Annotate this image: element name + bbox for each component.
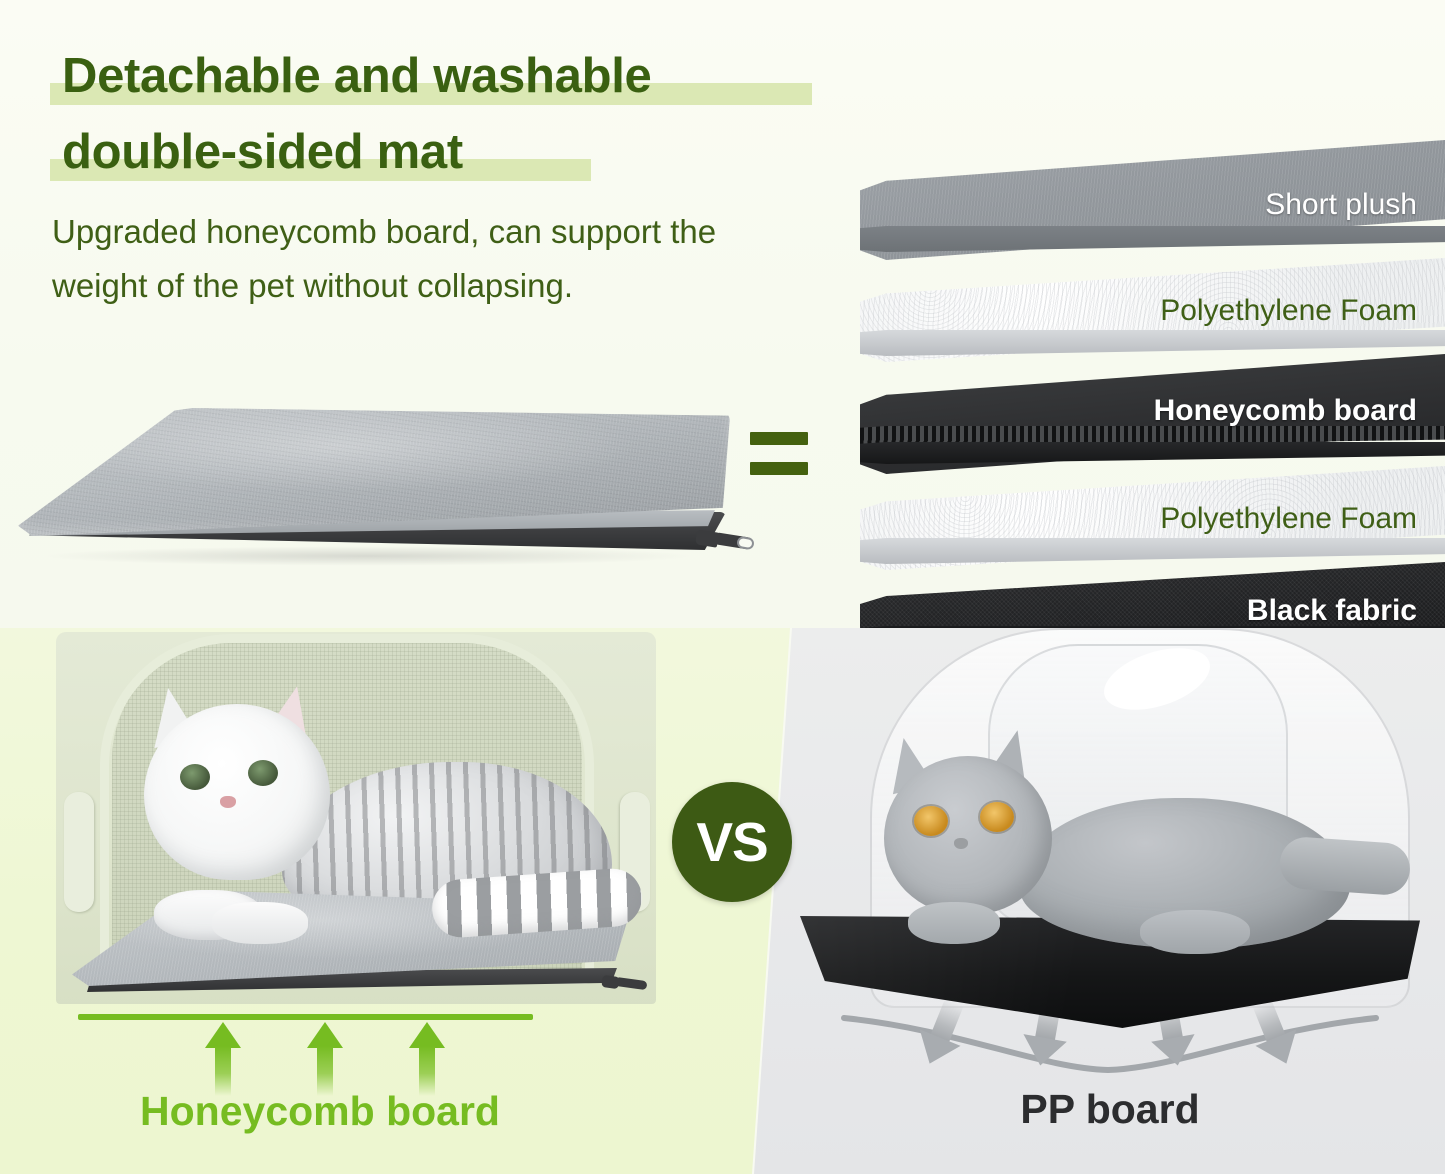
infographic-root: Detachable and washable double-sided mat… <box>0 0 1445 1174</box>
arrow-head <box>205 1022 241 1048</box>
layer-label-polyethylene-foam-top: Polyethylene Foam <box>1160 294 1417 328</box>
cat-head <box>884 756 1052 914</box>
page-title: Detachable and washable double-sided mat <box>62 38 852 190</box>
cat-eye-right <box>248 760 278 786</box>
equals-bar-bottom <box>750 462 808 475</box>
cat-nose <box>954 838 968 849</box>
cat-eye-right <box>980 802 1014 832</box>
layer-stack-diagram: Short plush Polyethylene Foam Honeycomb … <box>860 140 1445 570</box>
headline-line-2: double-sided mat <box>62 114 852 190</box>
up-arrow-icon-2 <box>307 1022 343 1096</box>
vs-badge: VS <box>672 782 792 902</box>
cat-eye-left <box>914 806 948 836</box>
subheadline: Upgraded honeycomb board, can support th… <box>52 205 812 313</box>
up-arrow-icon-1 <box>205 1022 241 1096</box>
cat-paw-second <box>212 902 308 944</box>
support-line-left <box>78 1014 533 1020</box>
up-arrow-icon-3 <box>409 1022 445 1096</box>
layer-label-short-plush: Short plush <box>1265 188 1417 222</box>
pp-board-caption: PP board <box>850 1086 1370 1133</box>
layer-label-honeycomb-board: Honeycomb board <box>1154 394 1417 428</box>
cat-paw-front <box>908 902 1000 944</box>
grey-shorthair-cat <box>840 724 1400 994</box>
headline-line-1: Detachable and washable <box>62 38 852 114</box>
arrow-head <box>409 1022 445 1048</box>
headline-line-1-text: Detachable and washable <box>62 49 651 103</box>
cat-paw-second <box>1140 910 1250 954</box>
slab-edge <box>860 442 1445 464</box>
equals-bar-top <box>750 432 808 445</box>
layer-label-black-fabric: Black fabric <box>1247 594 1417 628</box>
assembled-mat-image <box>8 398 748 588</box>
slab-edge <box>860 330 1445 356</box>
zipper-pull-icon <box>696 529 754 555</box>
headline-line-2-text: double-sided mat <box>62 125 463 179</box>
cat-head <box>144 704 330 880</box>
mat-shadow <box>38 546 698 566</box>
equals-sign-icon <box>750 432 808 494</box>
cat-nose <box>220 796 236 808</box>
slab-edge <box>860 538 1445 564</box>
arrow-head <box>307 1022 343 1048</box>
cat-eye-left <box>180 764 210 790</box>
cat-tail <box>1278 836 1411 897</box>
zipper-tab <box>615 977 648 990</box>
slab-edge <box>860 226 1445 252</box>
top-section: Detachable and washable double-sided mat… <box>0 0 1445 628</box>
layer-label-polyethylene-foam-bottom: Polyethylene Foam <box>1160 502 1417 536</box>
honeycomb-board-caption: Honeycomb board <box>60 1088 580 1135</box>
zipper-pull-icon <box>602 974 648 994</box>
